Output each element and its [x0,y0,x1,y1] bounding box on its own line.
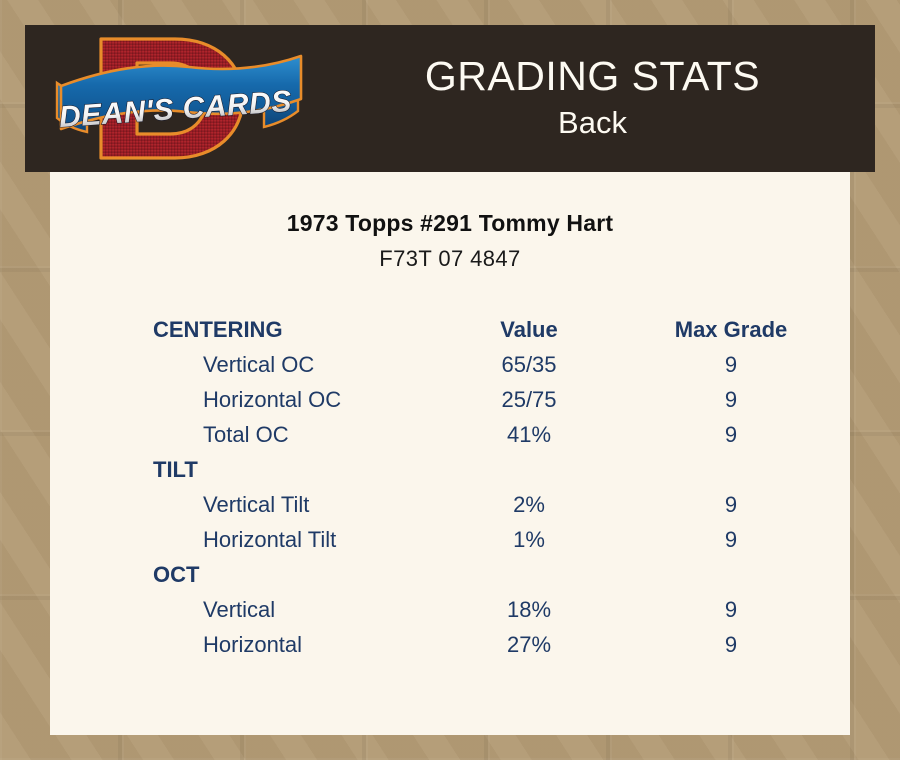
stat-value: 41% [450,417,650,452]
stat-max-grade: 9 [650,522,850,557]
grade-spacer [650,557,850,592]
page-title: GRADING STATS [425,54,760,100]
grading-stats-table: CENTERINGValueMax GradeVertical OC65/359… [50,312,850,662]
stat-label: Horizontal OC [50,382,450,417]
column-header-value: Value [450,312,650,347]
stat-label: Vertical Tilt [50,487,450,522]
table-row: Vertical OC65/359 [50,347,850,382]
header-title-group: GRADING STATS Back [310,25,875,172]
table-row: Horizontal Tilt1%9 [50,522,850,557]
stat-value: 25/75 [450,382,650,417]
section-title-centering: CENTERING [50,312,450,347]
table-row: Horizontal OC25/759 [50,382,850,417]
stat-label: Horizontal [50,627,450,662]
stat-label: Vertical OC [50,347,450,382]
stat-max-grade: 9 [650,347,850,382]
column-header-max-grade: Max Grade [650,312,850,347]
section-title-oct: OCT [50,557,450,592]
stat-max-grade: 9 [650,417,850,452]
section-header-row: TILT [50,452,850,487]
stat-value: 2% [450,487,650,522]
table-row: Vertical18%9 [50,592,850,627]
table-row: Horizontal27%9 [50,627,850,662]
stat-max-grade: 9 [650,487,850,522]
stat-value: 18% [450,592,650,627]
table-row: Total OC41%9 [50,417,850,452]
stat-max-grade: 9 [650,592,850,627]
card-title: 1973 Topps #291 Tommy Hart [50,210,850,237]
section-header-row: CENTERINGValueMax Grade [50,312,850,347]
card-identifier: F73T 07 4847 [50,246,850,272]
grading-stats-body: CENTERINGValueMax GradeVertical OC65/359… [50,312,850,662]
stat-value: 65/35 [450,347,650,382]
grading-stats-page: DEAN'S CARDS GRADING STATS Back 1973 Top… [0,0,900,760]
section-title-tilt: TILT [50,452,450,487]
page-subtitle: Back [558,104,627,143]
value-spacer [450,452,650,487]
stat-label: Vertical [50,592,450,627]
deans-cards-logo[interactable]: DEAN'S CARDS [45,27,310,170]
header-bar: DEAN'S CARDS GRADING STATS Back [25,25,875,172]
stat-value: 1% [450,522,650,557]
section-header-row: OCT [50,557,850,592]
stat-label: Horizontal Tilt [50,522,450,557]
stat-max-grade: 9 [650,382,850,417]
value-spacer [450,557,650,592]
table-row: Vertical Tilt2%9 [50,487,850,522]
stat-value: 27% [450,627,650,662]
logo-svg: DEAN'S CARDS [45,27,310,170]
content-panel: 1973 Topps #291 Tommy Hart F73T 07 4847 … [50,172,850,735]
grade-spacer [650,452,850,487]
stat-max-grade: 9 [650,627,850,662]
stat-label: Total OC [50,417,450,452]
